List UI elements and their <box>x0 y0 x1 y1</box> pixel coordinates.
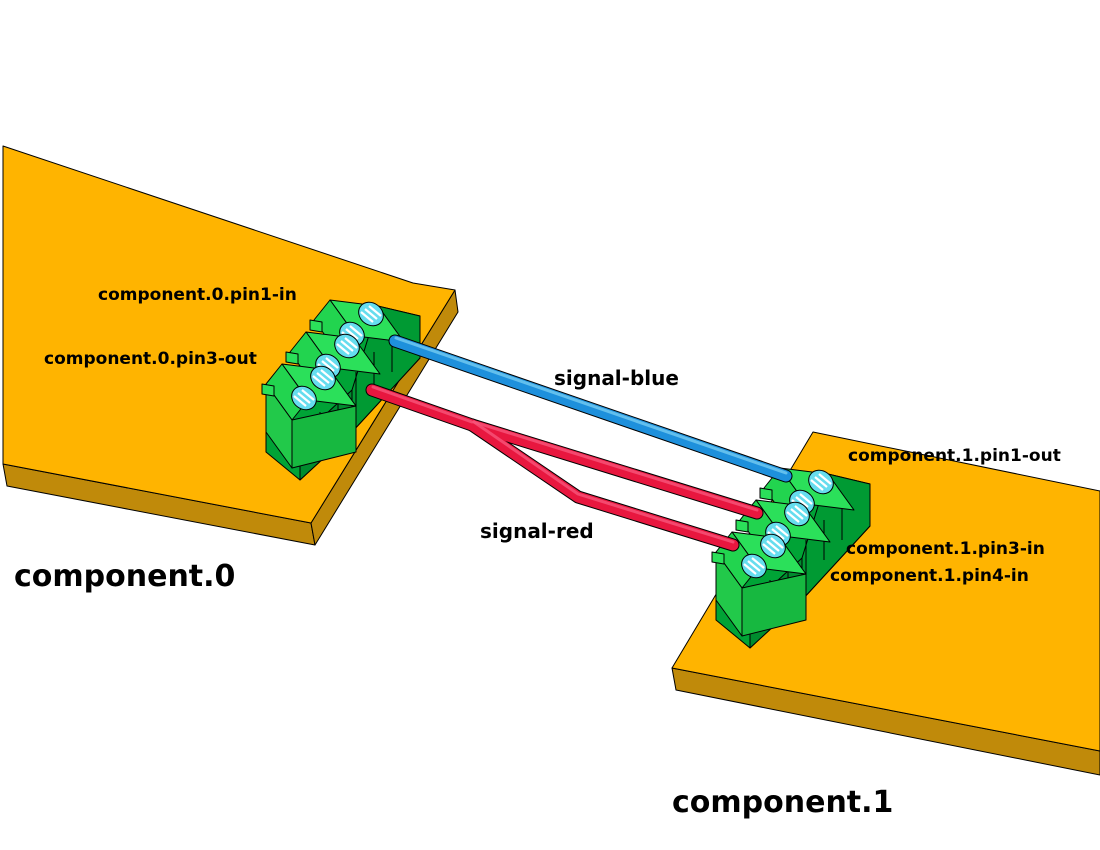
pin-label-component-1-pin3-in: component.1.pin3-in <box>846 539 1045 559</box>
signal-red-branch-a-body <box>472 425 757 513</box>
signal-label-red: signal-red <box>480 519 594 543</box>
signal-red-branch-a-highlight <box>474 422 757 510</box>
board-title-component-1: component.1 <box>672 785 893 820</box>
signal-blue-highlight <box>396 338 786 473</box>
pin-label-component-0-pin3-out: component.0.pin3-out <box>44 349 257 369</box>
pin-label-component-1-pin1-out: component.1.pin1-out <box>848 446 1061 466</box>
signal-label-blue: signal-blue <box>554 366 679 390</box>
pin-label-component-0-pin1-in: component.0.pin1-in <box>98 285 297 305</box>
pin-label-component-1-pin4-in: component.1.pin4-in <box>830 566 1029 586</box>
wiring-diagram-canvas: component.0.pin1-in component.0.pin3-out… <box>0 0 1100 850</box>
board-title-component-0: component.0 <box>14 559 235 594</box>
